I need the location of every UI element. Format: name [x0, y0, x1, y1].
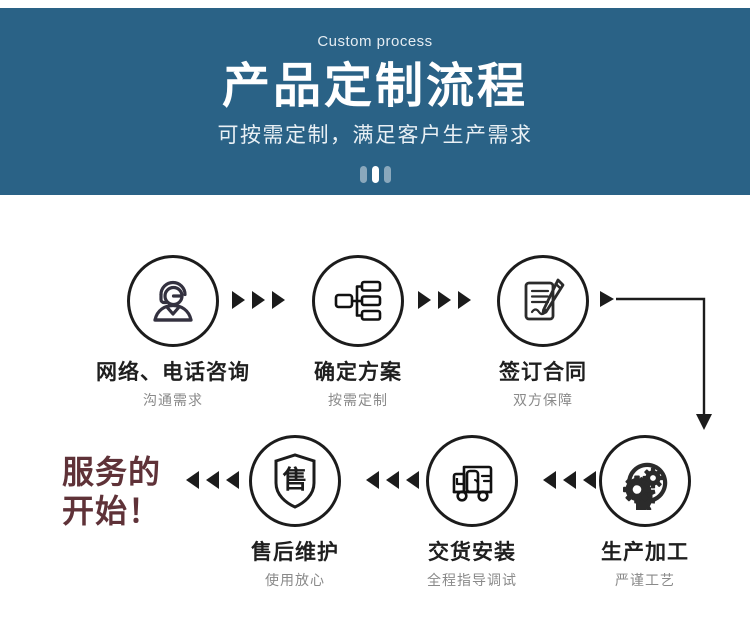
- dot-right: [384, 166, 391, 183]
- header-banner: Custom process 产品定制流程 可按需定制，满足客户生产需求: [0, 8, 750, 195]
- step-6-desc: 使用放心: [207, 573, 383, 588]
- banner-subtitle: 可按需定制，满足客户生产需求: [218, 125, 533, 146]
- triangle-right-icon: [232, 291, 245, 309]
- headset-person-icon: [144, 272, 202, 330]
- step-1-title: 网络、电话咨询: [85, 361, 261, 384]
- page-title: 产品定制流程: [222, 61, 528, 113]
- flowchart-icon: [329, 272, 387, 330]
- dot-left: [360, 166, 367, 183]
- step-1-consultation[interactable]: 网络、电话咨询 沟通需求: [85, 255, 261, 408]
- banner-eyebrow: Custom process: [317, 34, 432, 49]
- step-5-title: 交货安装: [384, 541, 560, 564]
- shield-glyph: 售: [266, 450, 324, 512]
- connector-step3-to-step4: [598, 280, 718, 445]
- shield-service-icon: 售: [266, 450, 324, 512]
- step-4-desc: 严谨工艺: [557, 573, 733, 588]
- contract-signing-icon: [514, 272, 572, 330]
- triangle-left-icon: [186, 471, 199, 489]
- service-start-line2: 开始！: [62, 492, 161, 531]
- service-start-label: 服务的 开始！: [62, 453, 161, 531]
- step-2-plan[interactable]: 确定方案 按需定制: [270, 255, 446, 408]
- infographic-page: Custom process 产品定制流程 可按需定制，满足客户生产需求: [0, 0, 750, 630]
- step-1-desc: 沟通需求: [85, 393, 261, 408]
- step-3-icon-circle: [497, 255, 589, 347]
- step-4-icon-circle: [599, 435, 691, 527]
- gears-icon: [616, 452, 674, 510]
- step-4-production[interactable]: 生产加工 严谨工艺: [557, 435, 733, 588]
- service-start-line1: 服务的: [62, 453, 161, 492]
- step-2-icon-circle: [312, 255, 404, 347]
- triangle-right-icon: [438, 291, 451, 309]
- triangle-left-icon: [366, 471, 379, 489]
- step-4-title: 生产加工: [557, 541, 733, 564]
- step-5-icon-circle: [426, 435, 518, 527]
- banner-dots-decoration: [360, 166, 391, 183]
- delivery-truck-icon: [443, 452, 501, 510]
- step-6-after-sales[interactable]: 售 售后维护 使用放心: [207, 435, 383, 588]
- step-6-title: 售后维护: [207, 541, 383, 564]
- dot-middle: [372, 166, 379, 183]
- step-1-icon-circle: [127, 255, 219, 347]
- process-diagram: 网络、电话咨询 沟通需求 确定方案 按需: [0, 195, 750, 630]
- step-5-delivery[interactable]: 交货安装 全程指导调试: [384, 435, 560, 588]
- triangle-left-icon: [543, 471, 556, 489]
- step-6-icon-circle: 售: [249, 435, 341, 527]
- elbow-arrow-icon: [598, 280, 718, 440]
- triangle-right-icon: [252, 291, 265, 309]
- step-2-desc: 按需定制: [270, 393, 446, 408]
- step-5-desc: 全程指导调试: [384, 573, 560, 588]
- step-2-title: 确定方案: [270, 361, 446, 384]
- triangle-right-icon: [418, 291, 431, 309]
